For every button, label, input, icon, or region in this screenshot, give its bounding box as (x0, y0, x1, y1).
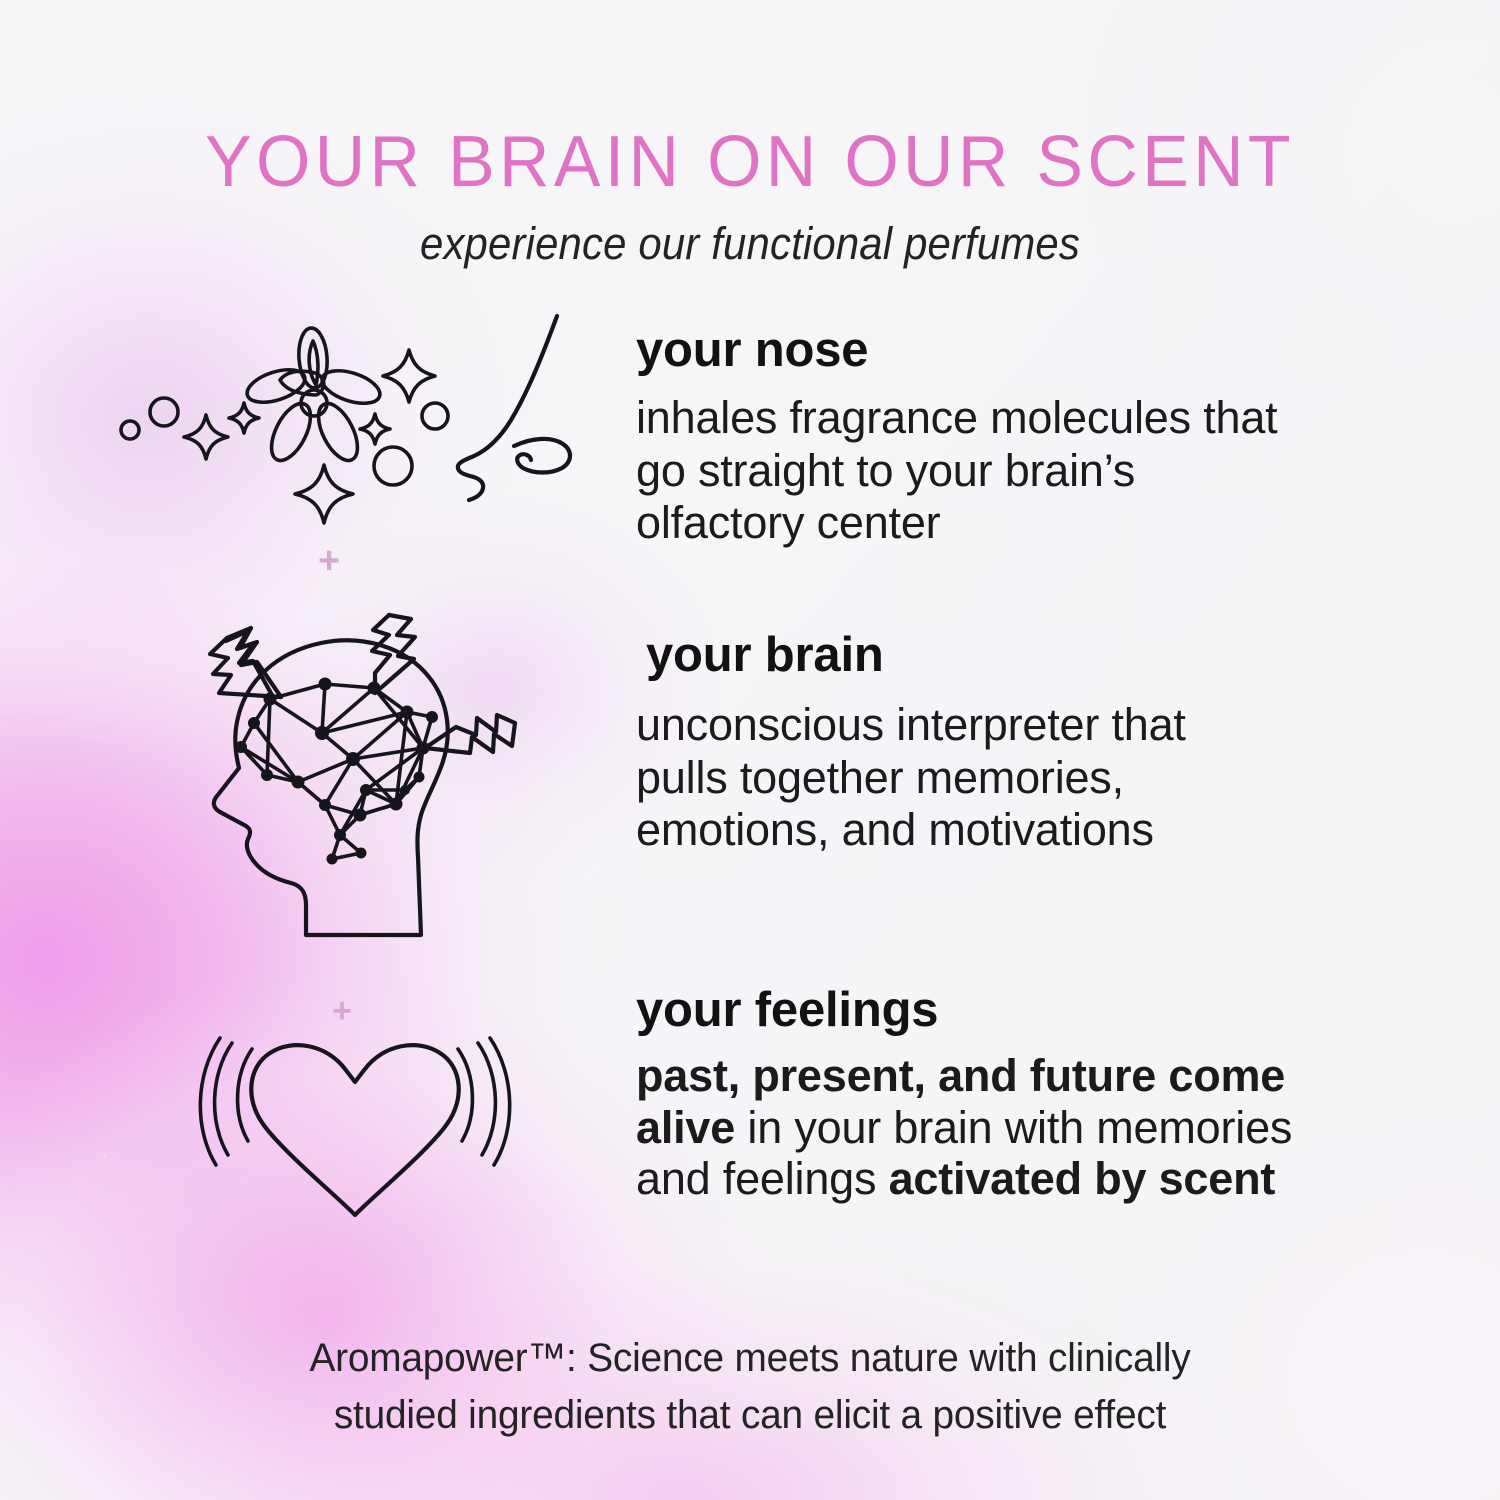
pulsing-heart-icon (190, 1025, 520, 1225)
poster-header: YOUR BRAIN ON OUR SCENT experience our f… (0, 126, 1500, 270)
page-title: YOUR BRAIN ON OUR SCENT (23, 126, 1478, 198)
head-with-neural-network-and-lightning-icon (175, 605, 535, 965)
section-nose: your nose inhales fragrance molecules th… (0, 300, 1500, 600)
section-brain: your brain unconscious interpreter that … (0, 600, 1500, 980)
section-body-nose: inhales fragrance molecules that go stra… (636, 392, 1436, 549)
section-heading-brain: your brain (636, 630, 1436, 681)
plus-separator-1: + (318, 542, 340, 580)
page-subtitle: experience our functional perfumes (53, 218, 1448, 270)
infographic-poster: YOUR BRAIN ON OUR SCENT experience our f… (0, 0, 1500, 1500)
footer-note: Aromapower™: Science meets nature with c… (23, 1330, 1478, 1444)
section-body-feelings: past, present, and future come alive in … (636, 1050, 1456, 1204)
section-heading-feelings: your feelings (636, 985, 1456, 1036)
section-feelings: your feelings past, present, and future … (0, 985, 1500, 1285)
brain-text-block: your brain unconscious interpreter that … (636, 630, 1436, 856)
section-heading-nose: your nose (636, 325, 1436, 376)
nose-text-block: your nose inhales fragrance molecules th… (636, 325, 1436, 549)
section-body-brain: unconscious interpreter that pulls toget… (636, 699, 1436, 856)
feelings-text-block: your feelings past, present, and future … (636, 985, 1456, 1204)
nose-with-flower-and-sparkles-icon (110, 310, 590, 540)
